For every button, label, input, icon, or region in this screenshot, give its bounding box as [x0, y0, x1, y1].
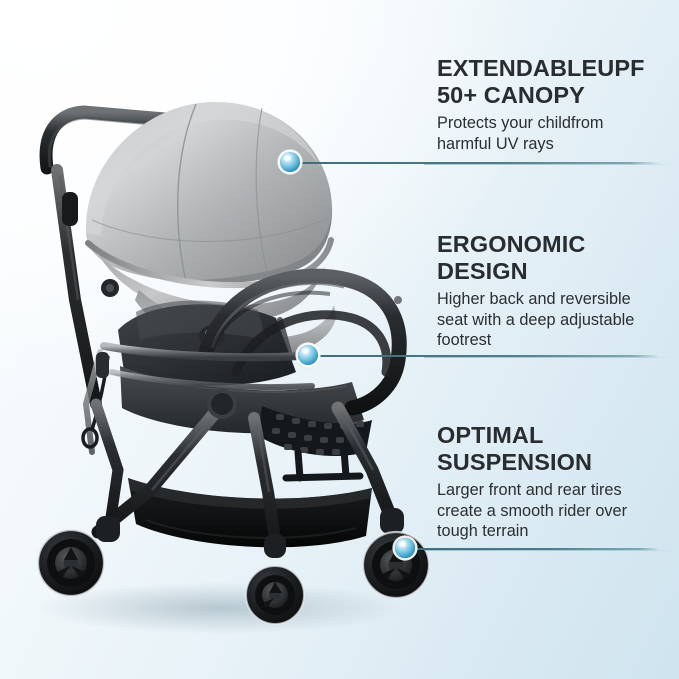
feature-title-ergonomic: ERGONOMIC DESIGN: [437, 231, 673, 285]
canopy-callout-dot[interactable]: [280, 152, 300, 172]
frame-joint: [62, 192, 78, 226]
stroller-storage-basket: [128, 478, 372, 547]
seat-callout-dot[interactable]: [298, 345, 318, 365]
feature-title-suspension: OPTIMAL SUSPENSION: [437, 422, 673, 476]
infographic-canvas: EXTENDABLEUPF 50+ CANOPY Protects your c…: [0, 0, 679, 679]
feature-title-canopy: EXTENDABLEUPF 50+ CANOPY: [437, 55, 673, 109]
divider-suspension: [424, 550, 674, 551]
wheel-front-middle: [246, 566, 304, 624]
leader-line-canopy: [296, 162, 660, 164]
divider-canopy: [424, 164, 674, 165]
divider-ergonomic: [424, 357, 674, 358]
feature-body-ergonomic: Higher back and reversible seat with a d…: [437, 289, 673, 351]
feature-body-canopy: Protects your childfrom harmful UV rays: [437, 113, 673, 154]
wheel-rear-left: [38, 530, 104, 596]
stroller-product-image: [0, 0, 440, 679]
leader-line-ergonomic: [314, 355, 660, 357]
feature-block-canopy: EXTENDABLEUPF 50+ CANOPY Protects your c…: [437, 55, 673, 154]
feature-block-ergonomic: ERGONOMIC DESIGN Higher back and reversi…: [437, 231, 673, 351]
feature-body-suspension: Larger front and rear tires create a smo…: [437, 480, 673, 542]
leader-line-suspension: [411, 548, 660, 550]
feature-block-suspension: OPTIMAL SUSPENSION Larger front and rear…: [437, 422, 673, 542]
wheel-callout-dot[interactable]: [395, 538, 415, 558]
